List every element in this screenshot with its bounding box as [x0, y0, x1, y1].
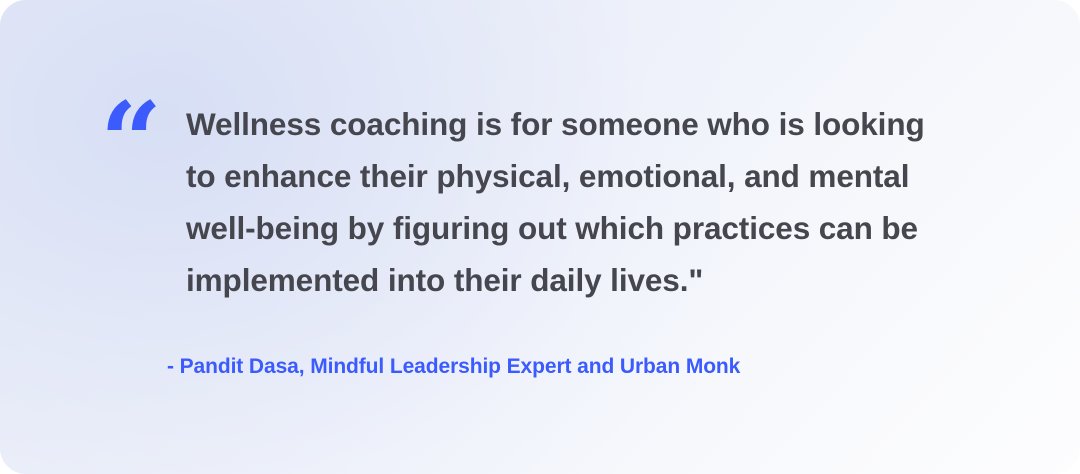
quote-attribution: - Pandit Dasa, Mindful Leadership Expert… [167, 352, 740, 382]
open-quote-icon: “ [100, 88, 160, 196]
quote-line: well-being by figuring out which practic… [186, 202, 1006, 254]
quote-line: Wellness coaching is for someone who is … [186, 98, 1006, 150]
quote-line: implemented into their daily lives." [186, 254, 1006, 306]
quote-card-inner: “ Wellness coaching is for someone who i… [0, 0, 1080, 474]
quote-line: to enhance their physical, emotional, an… [186, 150, 1006, 202]
quote-card: “ Wellness coaching is for someone who i… [0, 0, 1080, 474]
quote-body: Wellness coaching is for someone who is … [186, 98, 1006, 306]
